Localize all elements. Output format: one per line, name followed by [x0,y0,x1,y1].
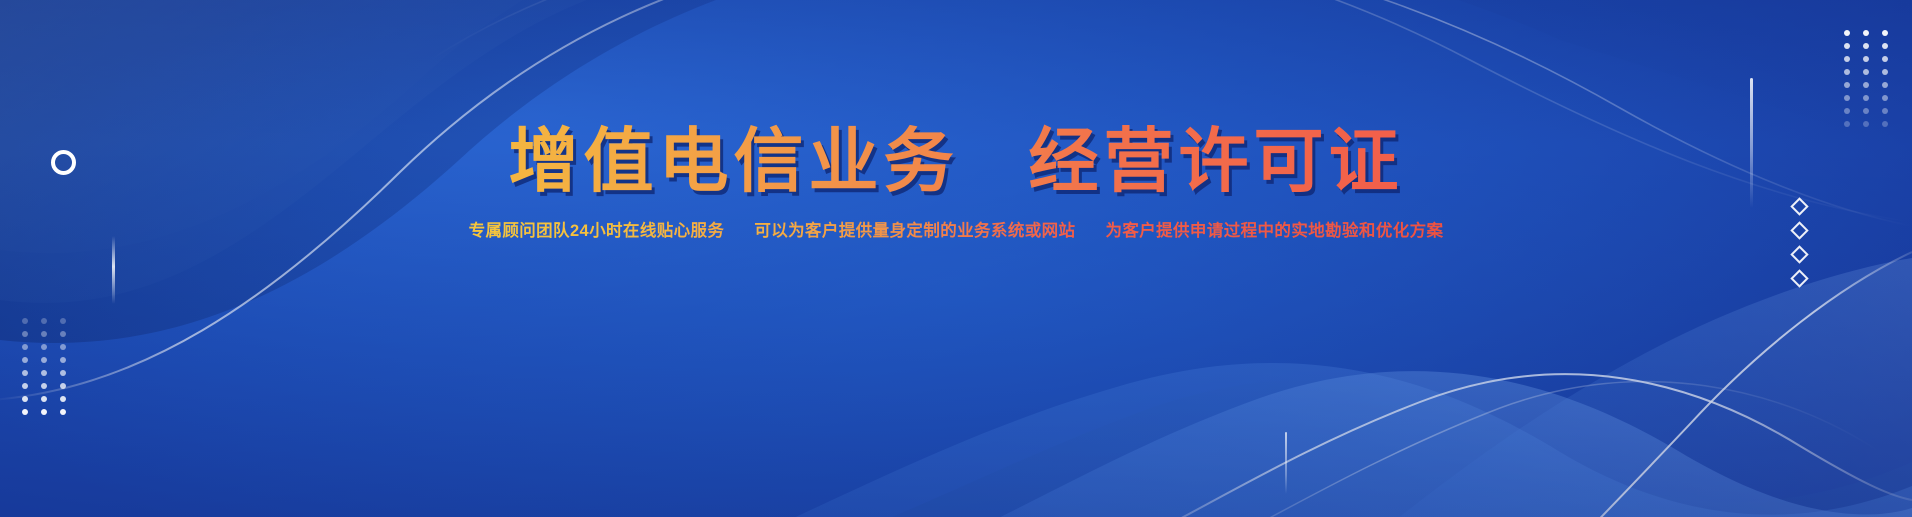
accent-line-left [112,236,115,304]
dot [41,409,47,415]
dot [41,331,47,337]
dot [22,370,28,376]
dot [1882,69,1888,75]
dot [1863,69,1869,75]
dot [1844,108,1850,114]
dot [1844,82,1850,88]
title-spacer [959,122,1029,200]
dot [60,409,66,415]
dot [22,357,28,363]
dot [1863,82,1869,88]
dot [1844,56,1850,62]
dot [60,383,66,389]
dot [1882,82,1888,88]
dot [1882,108,1888,114]
dot [1844,43,1850,49]
subtitle-segment-2: 可以为客户提供量身定制的业务系统或网站 [754,220,1075,243]
dot [60,318,66,324]
dot [60,331,66,337]
dot-grid-top-right-icon [1844,30,1894,134]
page-title-part-1: 增值电信业务 [509,122,959,200]
dot [41,383,47,389]
dot [60,357,66,363]
dot [1863,108,1869,114]
dot [1882,56,1888,62]
banner-content: 增值电信业务 经营许可证 专属顾问团队24小时在线贴心服务可以为客户提供量身定制… [0,124,1912,243]
dot [41,344,47,350]
dot [1863,95,1869,101]
dot [1844,95,1850,101]
dot [1882,95,1888,101]
dot [22,409,28,415]
dot [22,331,28,337]
dot [22,396,28,402]
dot [41,396,47,402]
dot [1863,30,1869,36]
dot [1863,43,1869,49]
accent-line-bottom [1285,432,1287,494]
dot [41,370,47,376]
dot-grid-bottom-left-icon [22,318,72,422]
dot [1844,30,1850,36]
wave-decoration-artwork [0,0,1912,517]
dot [1882,30,1888,36]
dot [60,396,66,402]
subtitle-segment-3: 为客户提供申请过程中的实地勘验和优化方案 [1105,220,1443,243]
dot [1882,43,1888,49]
dot [22,383,28,389]
dot [22,318,28,324]
dot [60,344,66,350]
page-title-part-2: 经营许可证 [1029,122,1404,200]
subtitle-row: 专属顾问团队24小时在线贴心服务可以为客户提供量身定制的业务系统或网站为客户提供… [0,220,1912,243]
dot [60,370,66,376]
page-title: 增值电信业务 经营许可证 [0,124,1912,198]
subtitle-segment-1: 专属顾问团队24小时在线贴心服务 [469,220,725,243]
promotional-banner: 增值电信业务 经营许可证 专属顾问团队24小时在线贴心服务可以为客户提供量身定制… [0,0,1912,517]
dot [1844,69,1850,75]
dot [1863,56,1869,62]
dot [22,344,28,350]
dot [41,357,47,363]
dot [41,318,47,324]
